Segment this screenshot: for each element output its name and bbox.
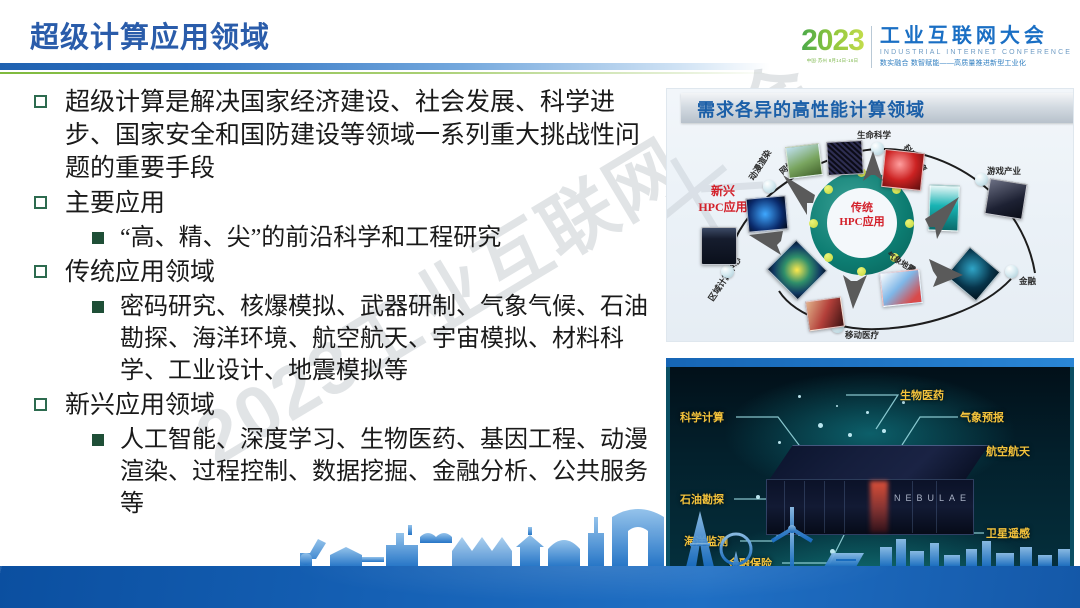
spark <box>882 429 886 433</box>
logo-name-en: INDUSTRIAL INTERNET CONFERENCE <box>880 49 1072 56</box>
figure-hpc-heading: 需求各异的高性能计算领域 <box>697 96 925 122</box>
arc-node-orb <box>871 142 884 155</box>
footer-band <box>0 566 1080 608</box>
hpc-outer-tag: 移动医疗 <box>845 329 879 341</box>
bullet-text: 新兴应用领域 <box>65 389 215 422</box>
logo-year-subtitle: 中国·苏州 8月14日-16日 <box>801 58 864 64</box>
bullet-item-level2: “高、精、尖”的前沿科学和工程研究 <box>26 222 656 254</box>
bullet-item-level1: 主要应用 <box>26 187 656 220</box>
spark <box>798 395 801 398</box>
hpc-center-label: 传统 HPC应用 <box>810 201 914 229</box>
hollow-square-bullet-icon <box>34 398 47 411</box>
footer-skyline <box>0 503 1080 567</box>
logo-divider <box>871 26 872 68</box>
spark <box>866 411 869 414</box>
thumb-cae <box>746 195 789 232</box>
logo-text-block: 工业互联网大会 INDUSTRIAL INTERNET CONFERENCE 数… <box>880 26 1072 68</box>
logo-name-cn: 工业互联网大会 <box>880 26 1072 47</box>
bullet-item-level1: 超级计算是解决国家经济建设、社会发展、科学进步、国家安全和国防建设等领域一系列重… <box>26 86 656 185</box>
divider-green-line <box>0 72 770 74</box>
thumb-regional-center <box>701 227 737 265</box>
bullet-text: 密码研究、核爆模拟、武器研制、气象气候、石油勘探、海洋环境、航空航天、宇宙模拟、… <box>120 291 656 387</box>
spark <box>836 405 838 407</box>
arc-node-orb <box>763 180 776 193</box>
bullet-item-level2: 密码研究、核爆模拟、武器研制、气象气候、石油勘探、海洋环境、航空航天、宇宙模拟、… <box>26 291 656 387</box>
logo-year: 2023 <box>801 26 864 56</box>
title-divider <box>0 63 770 77</box>
thumb-game-industry <box>984 178 1027 220</box>
ring-node <box>809 219 818 228</box>
page-title: 超级计算应用领域 <box>30 14 270 56</box>
thumb-petroleum <box>928 184 960 231</box>
figure-hpc-diagram: 传统 HPC应用 新兴 HPC应用 网络计算 科研教育 石油石化 <box>667 123 1074 342</box>
figure-supercomputer-top-band <box>666 358 1074 367</box>
bullet-text: 超级计算是解决国家经济建设、社会发展、科学进步、国家安全和国防建设等领域一系列重… <box>65 86 656 185</box>
divider-blue-bar <box>0 63 770 70</box>
ring-node <box>824 253 833 262</box>
thumb-animation-render <box>785 143 823 179</box>
thumb-life-science <box>881 149 925 191</box>
ring-node <box>905 219 914 228</box>
hollow-square-bullet-icon <box>34 196 47 209</box>
bullet-list: 超级计算是解决国家经济建设、社会发展、科学进步、国家安全和国防建设等领域一系列重… <box>26 86 656 522</box>
thumb-weather <box>879 269 922 307</box>
hpc-outer-tag: 生命科学 <box>857 129 891 141</box>
logo-year-block: 2023 中国·苏州 8月14日-16日 <box>801 26 871 64</box>
bullet-text: 传统应用领域 <box>65 256 215 289</box>
conference-logo: 2023 中国·苏州 8月14日-16日 工业互联网大会 INDUSTRIAL … <box>801 26 1072 68</box>
supercomputer-label: 科学计算 <box>680 409 724 425</box>
hollow-square-bullet-icon <box>34 95 47 108</box>
supercomputer-label: 气象预报 <box>960 409 1004 425</box>
rack-top-surface <box>767 445 989 483</box>
hollow-square-bullet-icon <box>34 265 47 278</box>
figure-hpc-heading-bar: 需求各异的高性能计算领域 <box>681 93 1074 123</box>
arc-node-orb <box>721 265 734 278</box>
ring-node <box>824 185 833 194</box>
logo-tagline: 数实融合 数智赋能——高质量推进新型工业化 <box>880 58 1072 68</box>
bullet-item-level1: 新兴应用领域 <box>26 389 656 422</box>
supercomputer-label: 航空航天 <box>986 443 1030 459</box>
spark <box>778 441 781 444</box>
spark <box>756 495 760 499</box>
bullet-text: “高、精、尖”的前沿科学和工程研究 <box>120 222 501 254</box>
thumb-network-computing <box>826 140 864 176</box>
filled-square-bullet-icon <box>92 434 104 446</box>
hpc-outer-tag: 游戏产业 <box>987 165 1021 177</box>
bullet-text: 主要应用 <box>65 187 165 220</box>
bullet-item-level1: 传统应用领域 <box>26 256 656 289</box>
arc-node-orb <box>1005 265 1018 278</box>
filled-square-bullet-icon <box>92 232 104 244</box>
spark <box>848 433 852 437</box>
figure-hpc-landscape: 需求各异的高性能计算领域 传统 HPC应用 <box>666 88 1074 342</box>
ring-node <box>857 267 866 276</box>
rack-brand-text: NEBULAE <box>894 493 971 503</box>
arc-node-orb <box>975 173 988 186</box>
supercomputer-label: 生物医药 <box>900 387 944 403</box>
slide-canvas: 超级计算应用领域 2023 中国·苏州 8月14日-16日 工业互联网大会 IN… <box>0 0 1080 608</box>
hpc-outer-tag: 金融 <box>1019 275 1036 287</box>
filled-square-bullet-icon <box>92 301 104 313</box>
spark <box>818 423 823 428</box>
thumb-mobile-medical <box>805 297 845 332</box>
